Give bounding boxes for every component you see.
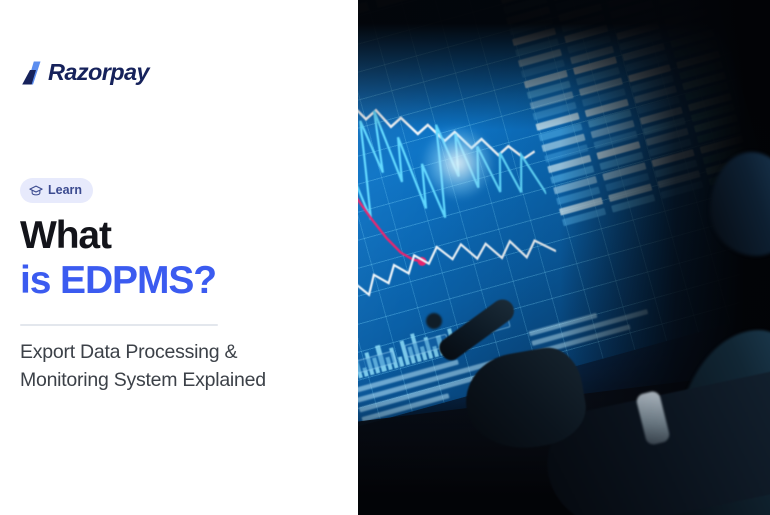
page-title-line-2: is EDPMS? bbox=[20, 258, 340, 303]
razorpay-logo[interactable]: Razorpay bbox=[20, 58, 149, 88]
page-title: What is EDPMS? bbox=[20, 213, 340, 303]
page-subtitle: Export Data Processing & Monitoring Syst… bbox=[20, 339, 350, 394]
title-divider bbox=[20, 324, 218, 326]
page-subtitle-line-2: Monitoring System Explained bbox=[20, 367, 350, 395]
fingertip bbox=[426, 313, 442, 329]
hero-image bbox=[358, 0, 770, 515]
page-title-line-1: What bbox=[20, 213, 340, 258]
razorpay-bar-mark-icon bbox=[20, 61, 45, 85]
left-text-panel: Razorpay Learn What is EDPMS? Export Dat… bbox=[0, 0, 358, 515]
article-hero-card: Razorpay Learn What is EDPMS? Export Dat… bbox=[0, 0, 770, 515]
graduation-cap-icon bbox=[29, 184, 43, 198]
page-subtitle-line-1: Export Data Processing & bbox=[20, 339, 350, 367]
razorpay-wordmark: Razorpay bbox=[48, 61, 149, 85]
hero-image-stage bbox=[358, 0, 770, 515]
learn-badge-label: Learn bbox=[48, 184, 82, 197]
learn-badge[interactable]: Learn bbox=[20, 178, 93, 203]
